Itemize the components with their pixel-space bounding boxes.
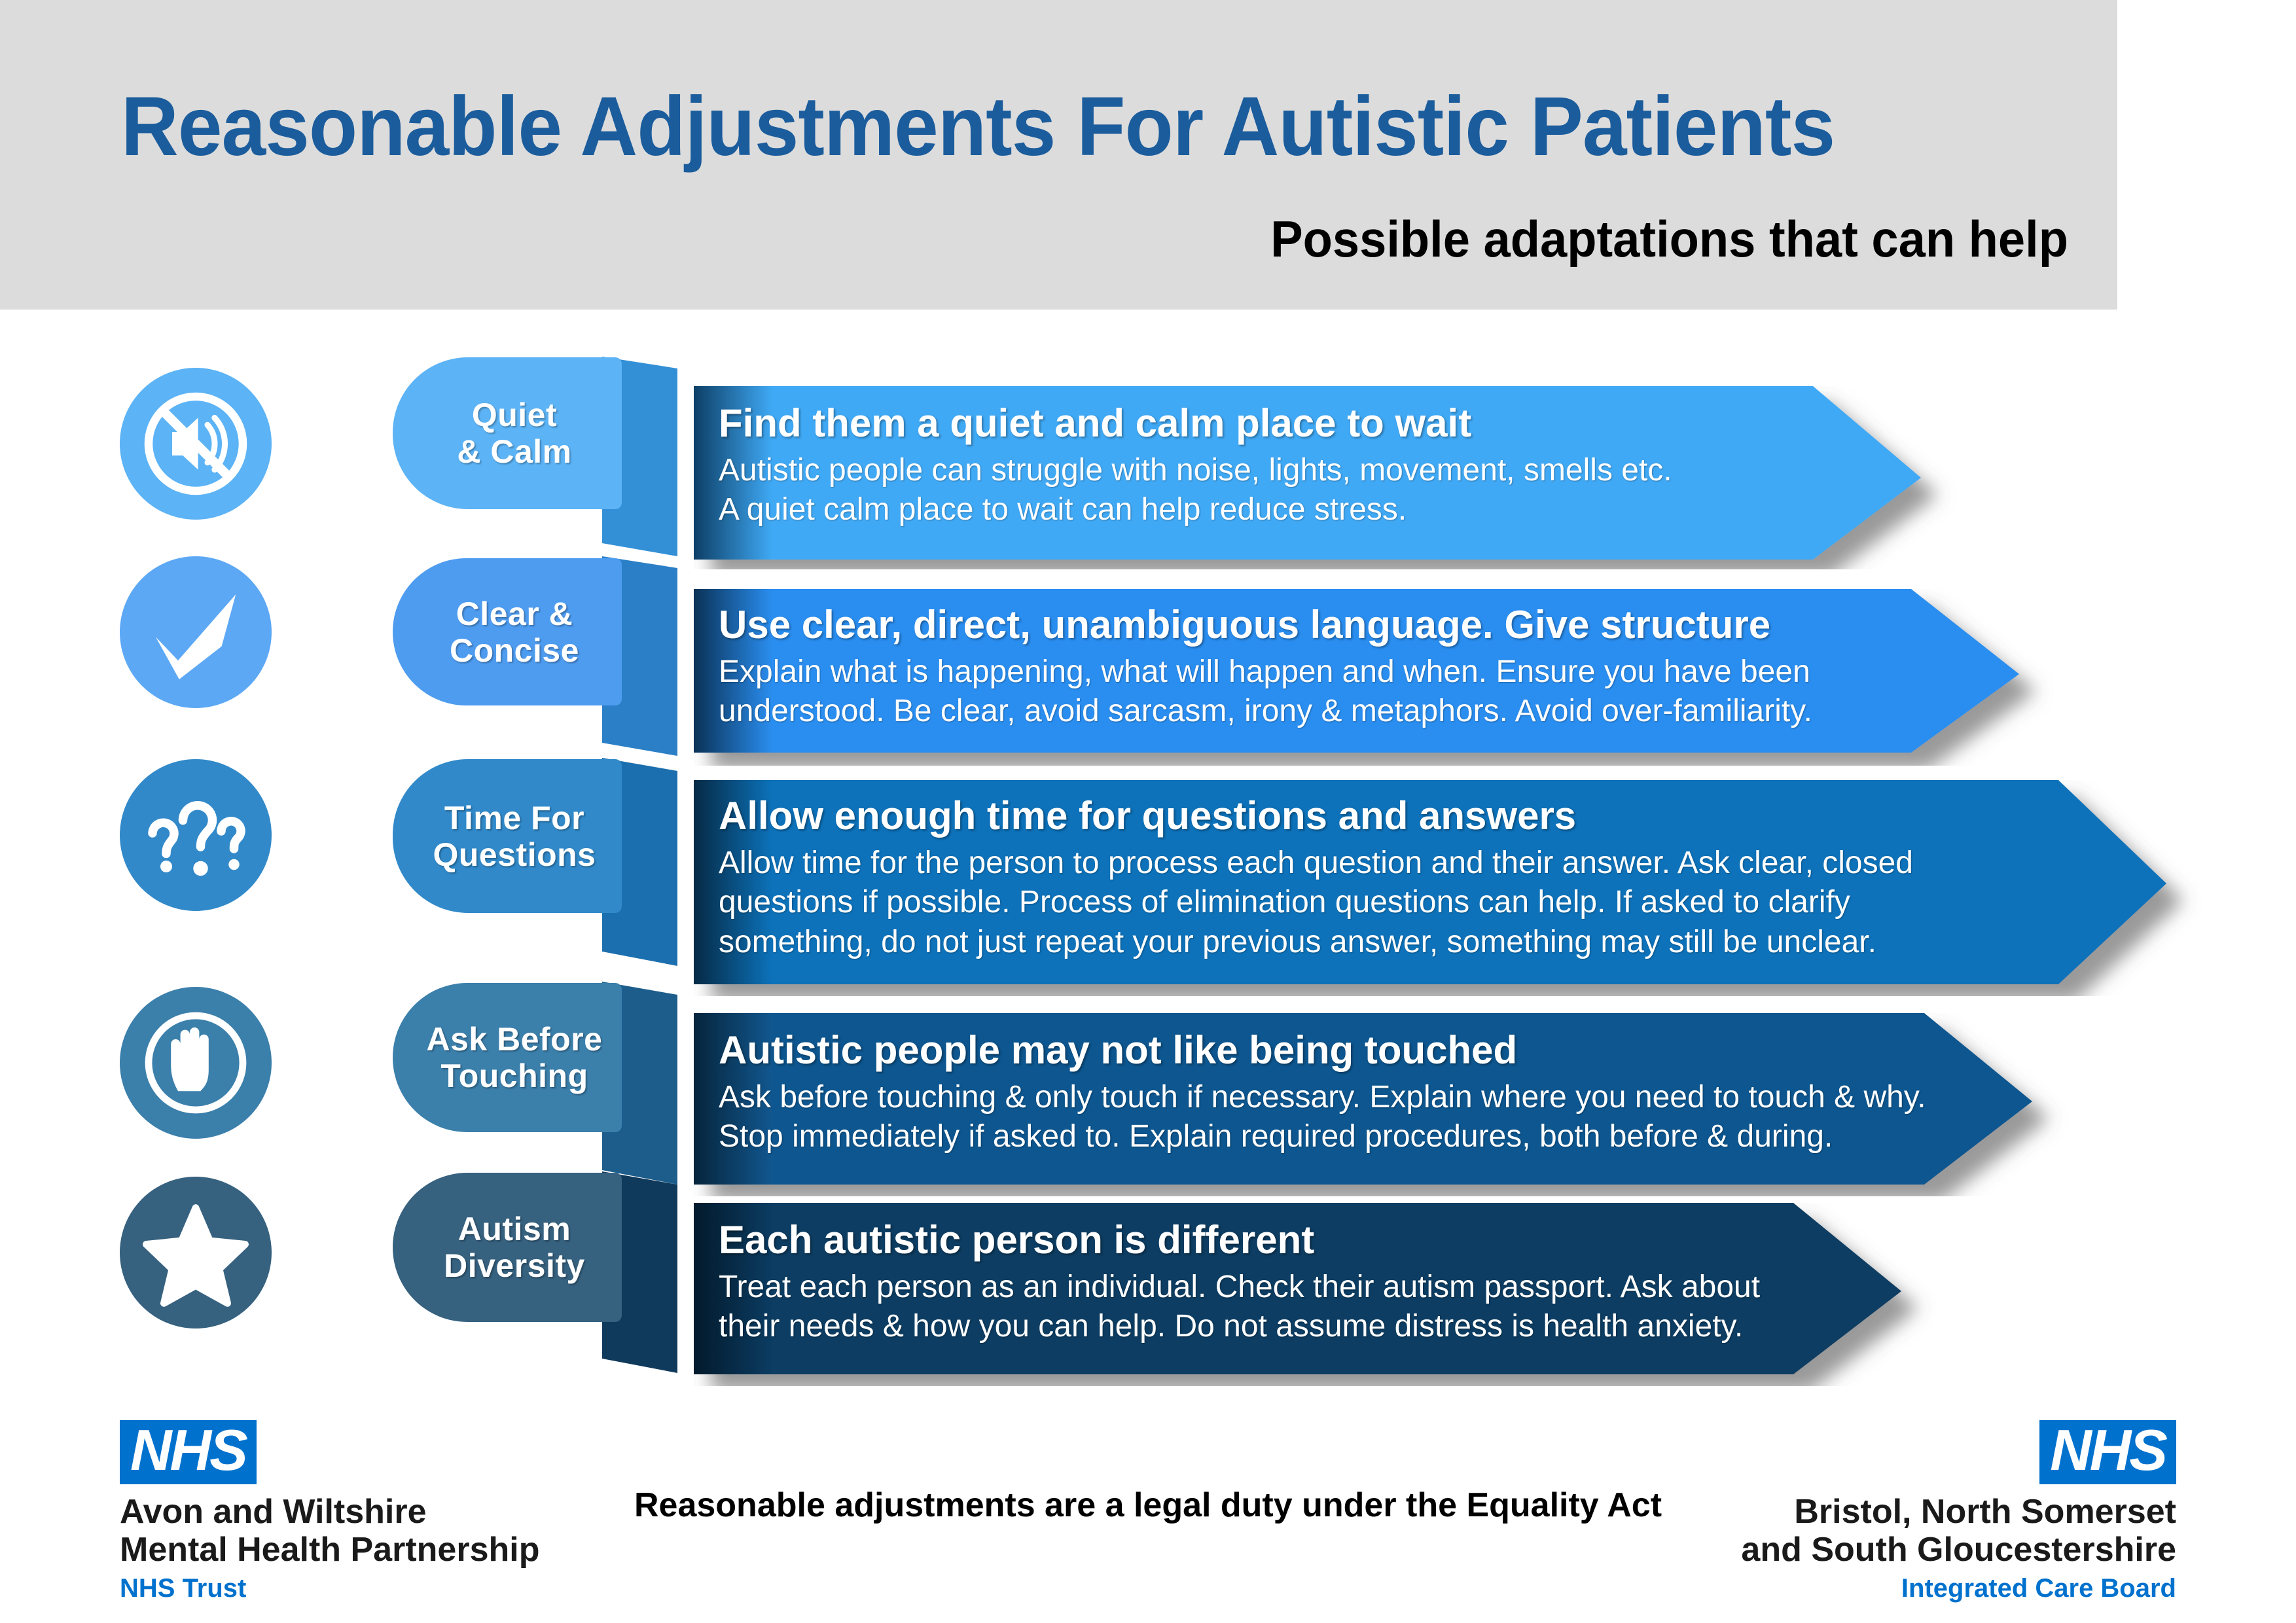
banner-line: Explain what is happening, what will hap… [719, 652, 2003, 692]
star-icon [120, 1177, 272, 1329]
banner-line: understood. Be clear, avoid sarcasm, iro… [719, 692, 2003, 731]
banner-line: Stop immediately if asked to. Explain re… [719, 1117, 2003, 1156]
stop-hand-icon [120, 987, 272, 1139]
row-label-text: AutismDiversity [444, 1211, 585, 1284]
banner-heading: Autistic people may not like being touch… [719, 1027, 2003, 1073]
banner-line: questions if possible. Process of elimin… [719, 883, 2134, 922]
row-label-pill: Ask BeforeTouching [393, 983, 622, 1132]
page-subtitle: Possible adaptations that can help [103, 209, 2068, 269]
banner-heading: Allow enough time for questions and answ… [719, 793, 2134, 838]
banner-line: Allow time for the person to process eac… [719, 844, 2134, 883]
banner-line: A quiet calm place to wait can help redu… [719, 490, 1872, 529]
row-label-pill: Time ForQuestions [393, 759, 622, 913]
banner-text-block: Each autistic person is different Treat … [694, 1203, 1872, 1347]
nhs-logo-box: NHS [2039, 1420, 2176, 1484]
nhs-wordmark: NHS [130, 1418, 246, 1482]
row-label-pill: Quiet& Calm [393, 357, 622, 509]
row-label-text: Time ForQuestions [433, 800, 596, 873]
organisation-type: Integrated Care Board [1741, 1574, 2176, 1603]
row-label-pill: AutismDiversity [393, 1173, 622, 1322]
banner-text-block: Use clear, direct, unambiguous language.… [694, 588, 2003, 732]
question-marks-icon [120, 759, 272, 911]
nhs-logo-box: NHS [120, 1420, 257, 1484]
banner-heading: Each autistic person is different [719, 1217, 1872, 1262]
check-mark-icon [120, 556, 272, 708]
legal-duty-note: Reasonable adjustments are a legal duty … [0, 1486, 2296, 1525]
organisation-type: NHS Trust [120, 1574, 539, 1603]
banner-heading: Find them a quiet and calm place to wait [719, 401, 1872, 446]
banner-line: Ask before touching & only touch if nece… [719, 1078, 2003, 1117]
mute-speaker-icon [120, 368, 272, 520]
banner-line: Treat each person as an individual. Chec… [719, 1268, 1872, 1307]
row-label-text: Clear &Concise [450, 596, 579, 669]
banner-line: something, do not just repeat your previ… [719, 923, 2134, 962]
banner-line: Autistic people can struggle with noise,… [719, 451, 1872, 490]
banner-text-block: Allow enough time for questions and answ… [694, 779, 2134, 962]
row-label-text: Quiet& Calm [457, 397, 571, 470]
banner-text-block: Find them a quiet and calm place to wait… [694, 386, 1872, 530]
nhs-wordmark: NHS [2050, 1418, 2166, 1482]
page-title: Reasonable Adjustments For Autistic Pati… [121, 79, 1986, 175]
row-label-pill: Clear &Concise [393, 558, 622, 705]
row-label-text: Ask BeforeTouching [427, 1021, 603, 1094]
banner-text-block: Autistic people may not like being touch… [694, 1013, 2003, 1157]
banner-line: their needs & how you can help. Do not a… [719, 1307, 1872, 1346]
banner-heading: Use clear, direct, unambiguous language.… [719, 602, 2003, 647]
